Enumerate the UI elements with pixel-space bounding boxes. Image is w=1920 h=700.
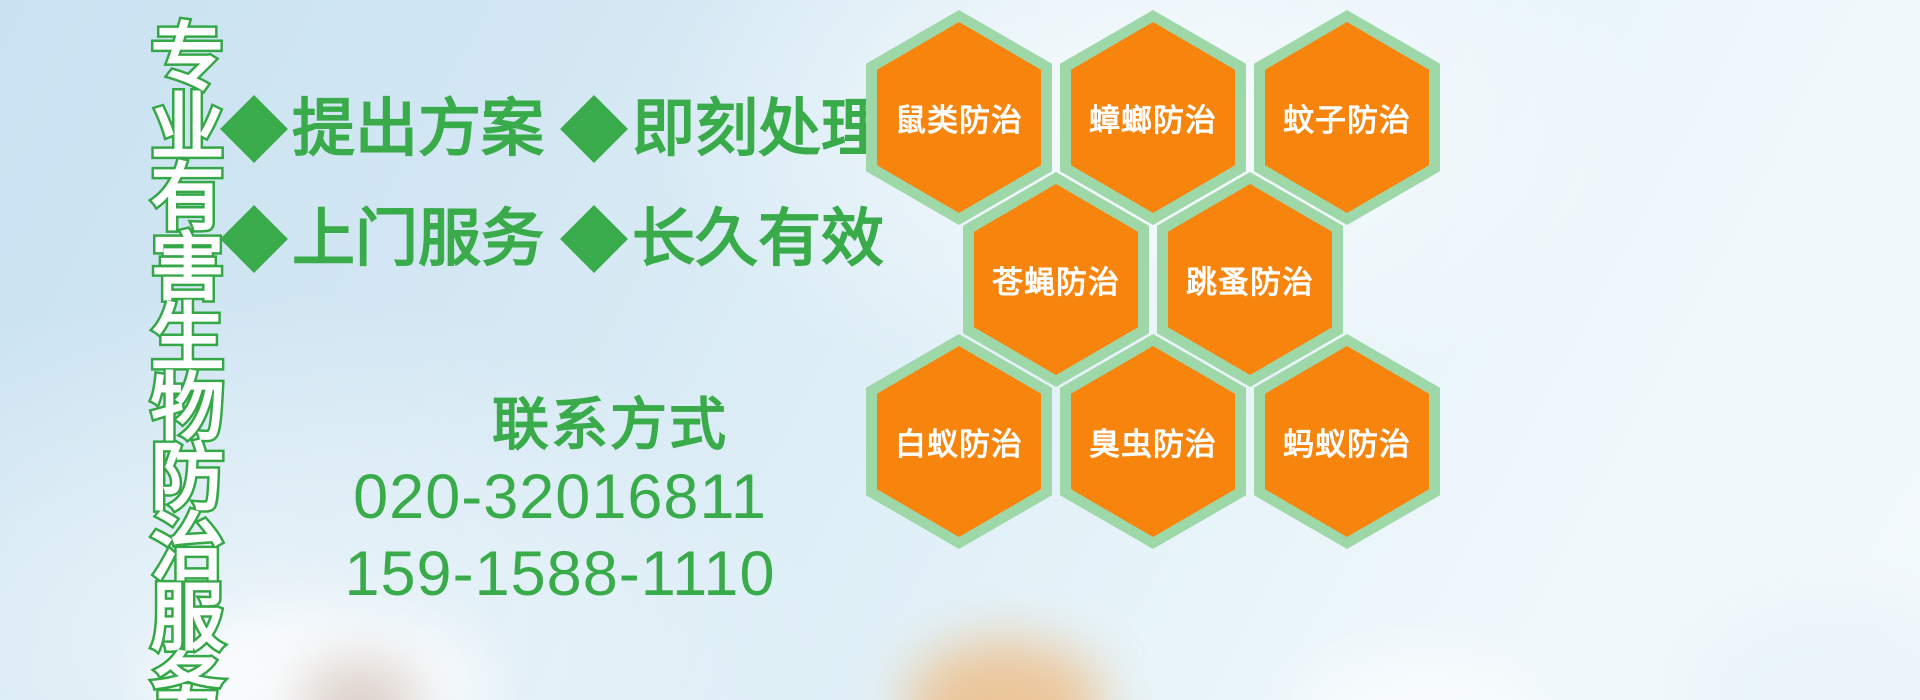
background-blur-blob: [300, 660, 420, 700]
vertical-headline: 专业有害生物防治服务: [112, 18, 216, 558]
diamond-icon: [220, 205, 288, 273]
service-label: 白蚁防治: [895, 419, 1023, 464]
slogan-label: 上门服务: [292, 208, 544, 271]
service-label: 蚊子防治: [1283, 95, 1411, 140]
slogan-item: 长久有效: [570, 208, 884, 271]
slogan-row: 上门服务 长久有效: [230, 184, 870, 294]
background-blur-blob: [905, 640, 1105, 700]
slogan-item: 上门服务: [230, 208, 544, 271]
diamond-icon: [560, 95, 628, 163]
service-label: 苍蝇防治: [992, 257, 1120, 302]
service-label: 蚂蚁防治: [1283, 419, 1411, 464]
contact-block: 联系方式 020-32016811 159-1588-1110: [230, 392, 890, 613]
service-label: 臭虫防治: [1089, 419, 1217, 464]
slogan-label: 长久有效: [632, 208, 884, 271]
slogan-list: 提出方案 即刻处理 上门服务 长久有效: [230, 74, 870, 294]
service-label: 鼠类防治: [895, 95, 1023, 140]
phone-number-landline[interactable]: 020-32016811: [230, 459, 890, 536]
slogan-label: 即刻处理: [632, 98, 884, 161]
slogan-item: 提出方案: [230, 98, 544, 161]
pest-control-promo-banner: 专业有害生物防治服务 提出方案 即刻处理 上门服务 长久有效: [0, 0, 1920, 700]
service-label: 蟑螂防治: [1089, 95, 1217, 140]
service-label: 跳蚤防治: [1186, 257, 1314, 302]
slogan-label: 提出方案: [292, 98, 544, 161]
slogan-item: 即刻处理: [570, 98, 884, 161]
diamond-icon: [220, 95, 288, 163]
contact-heading: 联系方式: [230, 392, 890, 459]
slogan-row: 提出方案 即刻处理: [230, 74, 870, 184]
diamond-icon: [560, 205, 628, 273]
background-blur-blob: [1690, 600, 1920, 700]
phone-number-mobile[interactable]: 159-1588-1110: [230, 536, 890, 613]
service-honeycomb-grid: 鼠类防治 蟑螂防治 蚊子防治 苍蝇防治 跳蚤防治 白蚁防治 臭虫防治: [858, 0, 1458, 570]
background-blur-blob: [1290, 648, 1550, 700]
